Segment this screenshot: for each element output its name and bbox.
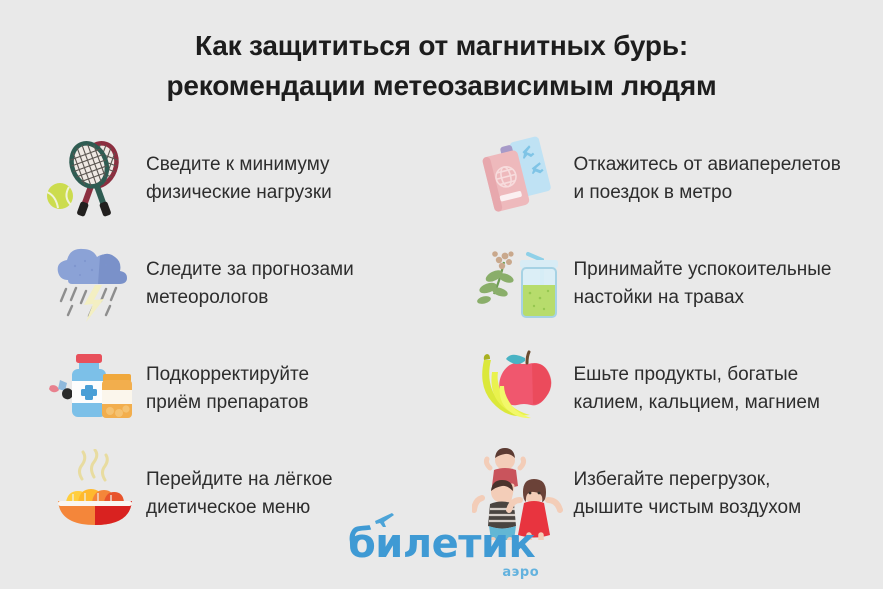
tip-line-1: Следите за прогнозами	[146, 256, 354, 284]
tip-item: Подкорректируйте приём препаратов	[42, 336, 456, 441]
tip-line-1: Принимайте успокоительные	[574, 256, 832, 284]
tip-line-2: калием, кальцием, магнием	[574, 389, 820, 417]
rain-cloud-lightning-icon	[42, 238, 146, 330]
airplane-icon	[374, 512, 396, 533]
tip-text: Откажитесь от авиаперелетов и поездок в …	[574, 151, 841, 206]
medicine-bottles-icon	[42, 343, 146, 435]
title-line-2: рекомендации метеозависимым людям	[0, 66, 883, 106]
tip-text: Перейдите на лёгкое диетическое меню	[146, 466, 333, 521]
title-line-1: Как защититься от магнитных бурь:	[0, 26, 883, 66]
tip-text: Сведите к минимуму физические нагрузки	[146, 151, 332, 206]
tip-line-1: Перейдите на лёгкое	[146, 466, 333, 494]
tip-item: Откажитесь от авиаперелетов и поездок в …	[470, 126, 883, 231]
brand-logo[interactable]: билетик аэро	[0, 524, 883, 564]
tip-line-2: настойки на травах	[574, 284, 832, 312]
logo-subtitle: аэро	[502, 565, 539, 580]
tip-text: Следите за прогнозами метеорологов	[146, 256, 354, 311]
page-title: Как защититься от магнитных бурь: рекоме…	[0, 26, 883, 106]
tip-line-1: Сведите к минимуму	[146, 151, 332, 179]
tip-item: Следите за прогнозами метеорологов	[42, 231, 456, 336]
tip-line-2: приём препаратов	[146, 389, 309, 417]
tip-text: Избегайте перегрузок, дышите чистым возд…	[574, 466, 802, 521]
tip-text: Подкорректируйте приём препаратов	[146, 361, 309, 416]
tip-line-2: метеорологов	[146, 284, 354, 312]
tip-line-2: дышите чистым воздухом	[574, 494, 802, 522]
tip-line-1: Откажитесь от авиаперелетов	[574, 151, 841, 179]
tip-line-1: Избегайте перегрузок,	[574, 466, 802, 494]
tip-item: Сведите к минимуму физические нагрузки	[42, 126, 456, 231]
herbal-drink-jar-icon	[470, 238, 574, 330]
tip-item: Принимайте успокоительные настойки на тр…	[470, 231, 883, 336]
tip-line-2: физические нагрузки	[146, 179, 332, 207]
tip-item: Ешьте продукты, богатые калием, кальцием…	[470, 336, 883, 441]
passport-boarding-pass-icon	[470, 133, 574, 225]
tip-text: Ешьте продукты, богатые калием, кальцием…	[574, 361, 820, 416]
tip-text: Принимайте успокоительные настойки на тр…	[574, 256, 832, 311]
tip-line-1: Подкорректируйте	[146, 361, 309, 389]
tips-column-right: Откажитесь от авиаперелетов и поездок в …	[456, 126, 883, 546]
tip-line-2: диетическое меню	[146, 494, 333, 522]
tip-line-2: и поездок в метро	[574, 179, 841, 207]
tip-line-1: Ешьте продукты, богатые	[574, 361, 820, 389]
tips-column-left: Сведите к минимуму физические нагрузки	[0, 126, 456, 546]
infographic-poster: Как защититься от магнитных бурь: рекоме…	[0, 0, 883, 589]
tips-columns: Сведите к минимуму физические нагрузки	[0, 126, 883, 546]
banana-apple-icon	[470, 343, 574, 435]
tennis-rackets-icon	[42, 133, 146, 225]
